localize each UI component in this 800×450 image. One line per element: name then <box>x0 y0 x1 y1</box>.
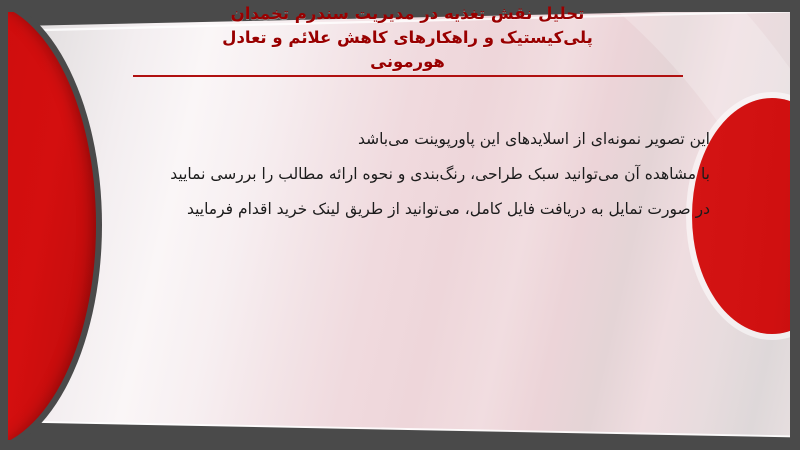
frame-border-bottom <box>0 440 800 450</box>
presentation-slide: تحلیل نقش تغذیه در مدیریت سندرم تخمدان پ… <box>0 0 800 450</box>
title-line-2: پلی‌کیستیک و راهکارهای کاهش علائم و تعاد… <box>120 26 695 50</box>
title-line-3: هورمونی <box>120 50 695 74</box>
frame-border-left <box>0 0 8 450</box>
title-underline-rule <box>133 75 683 77</box>
left-red-lens-decoration <box>0 0 102 450</box>
body-line-3: در صورت تمایل به دریافت فایل کامل، می‌تو… <box>110 192 710 227</box>
title-line-1: تحلیل نقش تغذیه در مدیریت سندرم تخمدان <box>120 2 695 26</box>
body-line-1: این تصویر نمونه‌ای از اسلایدهای این پاور… <box>110 122 710 157</box>
frame-border-right <box>790 0 800 450</box>
body-line-2: با مشاهده آن می‌توانید سبک طراحی، رنگ‌بن… <box>110 157 710 192</box>
slide-title: تحلیل نقش تغذیه در مدیریت سندرم تخمدان پ… <box>120 2 695 74</box>
slide-body-text: این تصویر نمونه‌ای از اسلایدهای این پاور… <box>110 122 710 227</box>
left-lens-shadow <box>0 1 96 449</box>
